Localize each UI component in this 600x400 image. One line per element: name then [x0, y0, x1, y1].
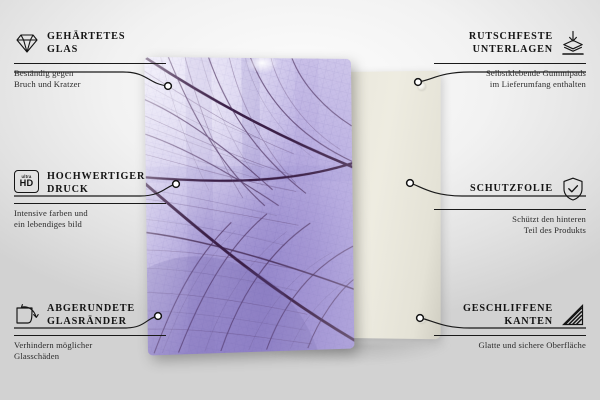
feature-title: HOCHWERTIGERDRUCK	[47, 170, 145, 197]
divider	[14, 335, 166, 336]
divider	[434, 209, 586, 210]
feature-header: SCHUTZFOLIE	[434, 172, 586, 206]
diamond-icon	[14, 30, 40, 56]
feature-rutschfeste-unterlagen: RUTSCHFESTEUNTERLAGEN Selbstklebende Gum…	[434, 26, 586, 90]
feature-header: GEHÄRTETESGLAS	[14, 26, 166, 60]
feature-description: Schützt den hinterenTeil des Produkts	[434, 214, 586, 236]
product-illustration	[140, 58, 455, 354]
polished-edge-icon	[560, 302, 586, 328]
glass-board	[144, 57, 354, 356]
feature-description: Beständig gegenBruch und Kratzer	[14, 68, 166, 90]
hd-label: HD	[20, 179, 34, 188]
feature-description: Selbstklebende Gummipadsim Lieferumfang …	[434, 68, 586, 90]
divider	[434, 63, 586, 64]
rubber-pad	[418, 83, 425, 90]
rubber-pad	[418, 316, 425, 323]
feature-title: GEHÄRTETESGLAS	[47, 30, 125, 57]
feature-title: SCHUTZFOLIE	[470, 182, 553, 196]
glass-highlight	[245, 57, 279, 73]
feature-gehaertetes-glas: GEHÄRTETESGLAS Beständig gegenBruch und …	[14, 26, 166, 90]
infographic-stage: GEHÄRTETESGLAS Beständig gegenBruch und …	[0, 0, 600, 400]
feature-header: ultra HD HOCHWERTIGERDRUCK	[14, 166, 166, 200]
feature-hochwertiger-druck: ultra HD HOCHWERTIGERDRUCK Intensive far…	[14, 166, 166, 230]
feature-schutzfolie: SCHUTZFOLIE Schützt den hinterenTeil des…	[434, 172, 586, 236]
divider	[14, 63, 166, 64]
feature-title: RUTSCHFESTEUNTERLAGEN	[469, 30, 553, 57]
feature-description: Intensive farben undein lebendiges bild	[14, 208, 166, 230]
divider	[434, 335, 586, 336]
download-pads-icon	[560, 30, 586, 56]
divider	[14, 203, 166, 204]
feature-geschliffene-kanten: GESCHLIFFENEKANTEN Glatte und sichere Ob…	[434, 298, 586, 351]
leaf-vein-artwork	[144, 57, 354, 356]
feature-title: ABGERUNDETEGLASRÄNDER	[47, 302, 135, 329]
feature-title: GESCHLIFFENEKANTEN	[463, 302, 553, 329]
shield-check-icon	[560, 176, 586, 202]
ultra-hd-icon: ultra HD	[14, 170, 40, 196]
feature-header: GESCHLIFFENEKANTEN	[434, 298, 586, 332]
rounded-corner-icon	[14, 302, 40, 328]
feature-description: Verhindern möglicherGlasschäden	[14, 340, 166, 362]
feature-header: ABGERUNDETEGLASRÄNDER	[14, 298, 166, 332]
feature-header: RUTSCHFESTEUNTERLAGEN	[434, 26, 586, 60]
feature-description: Glatte und sichere Oberfläche	[434, 340, 586, 351]
feature-abgerundete-glasraender: ABGERUNDETEGLASRÄNDER Verhindern möglich…	[14, 298, 166, 362]
